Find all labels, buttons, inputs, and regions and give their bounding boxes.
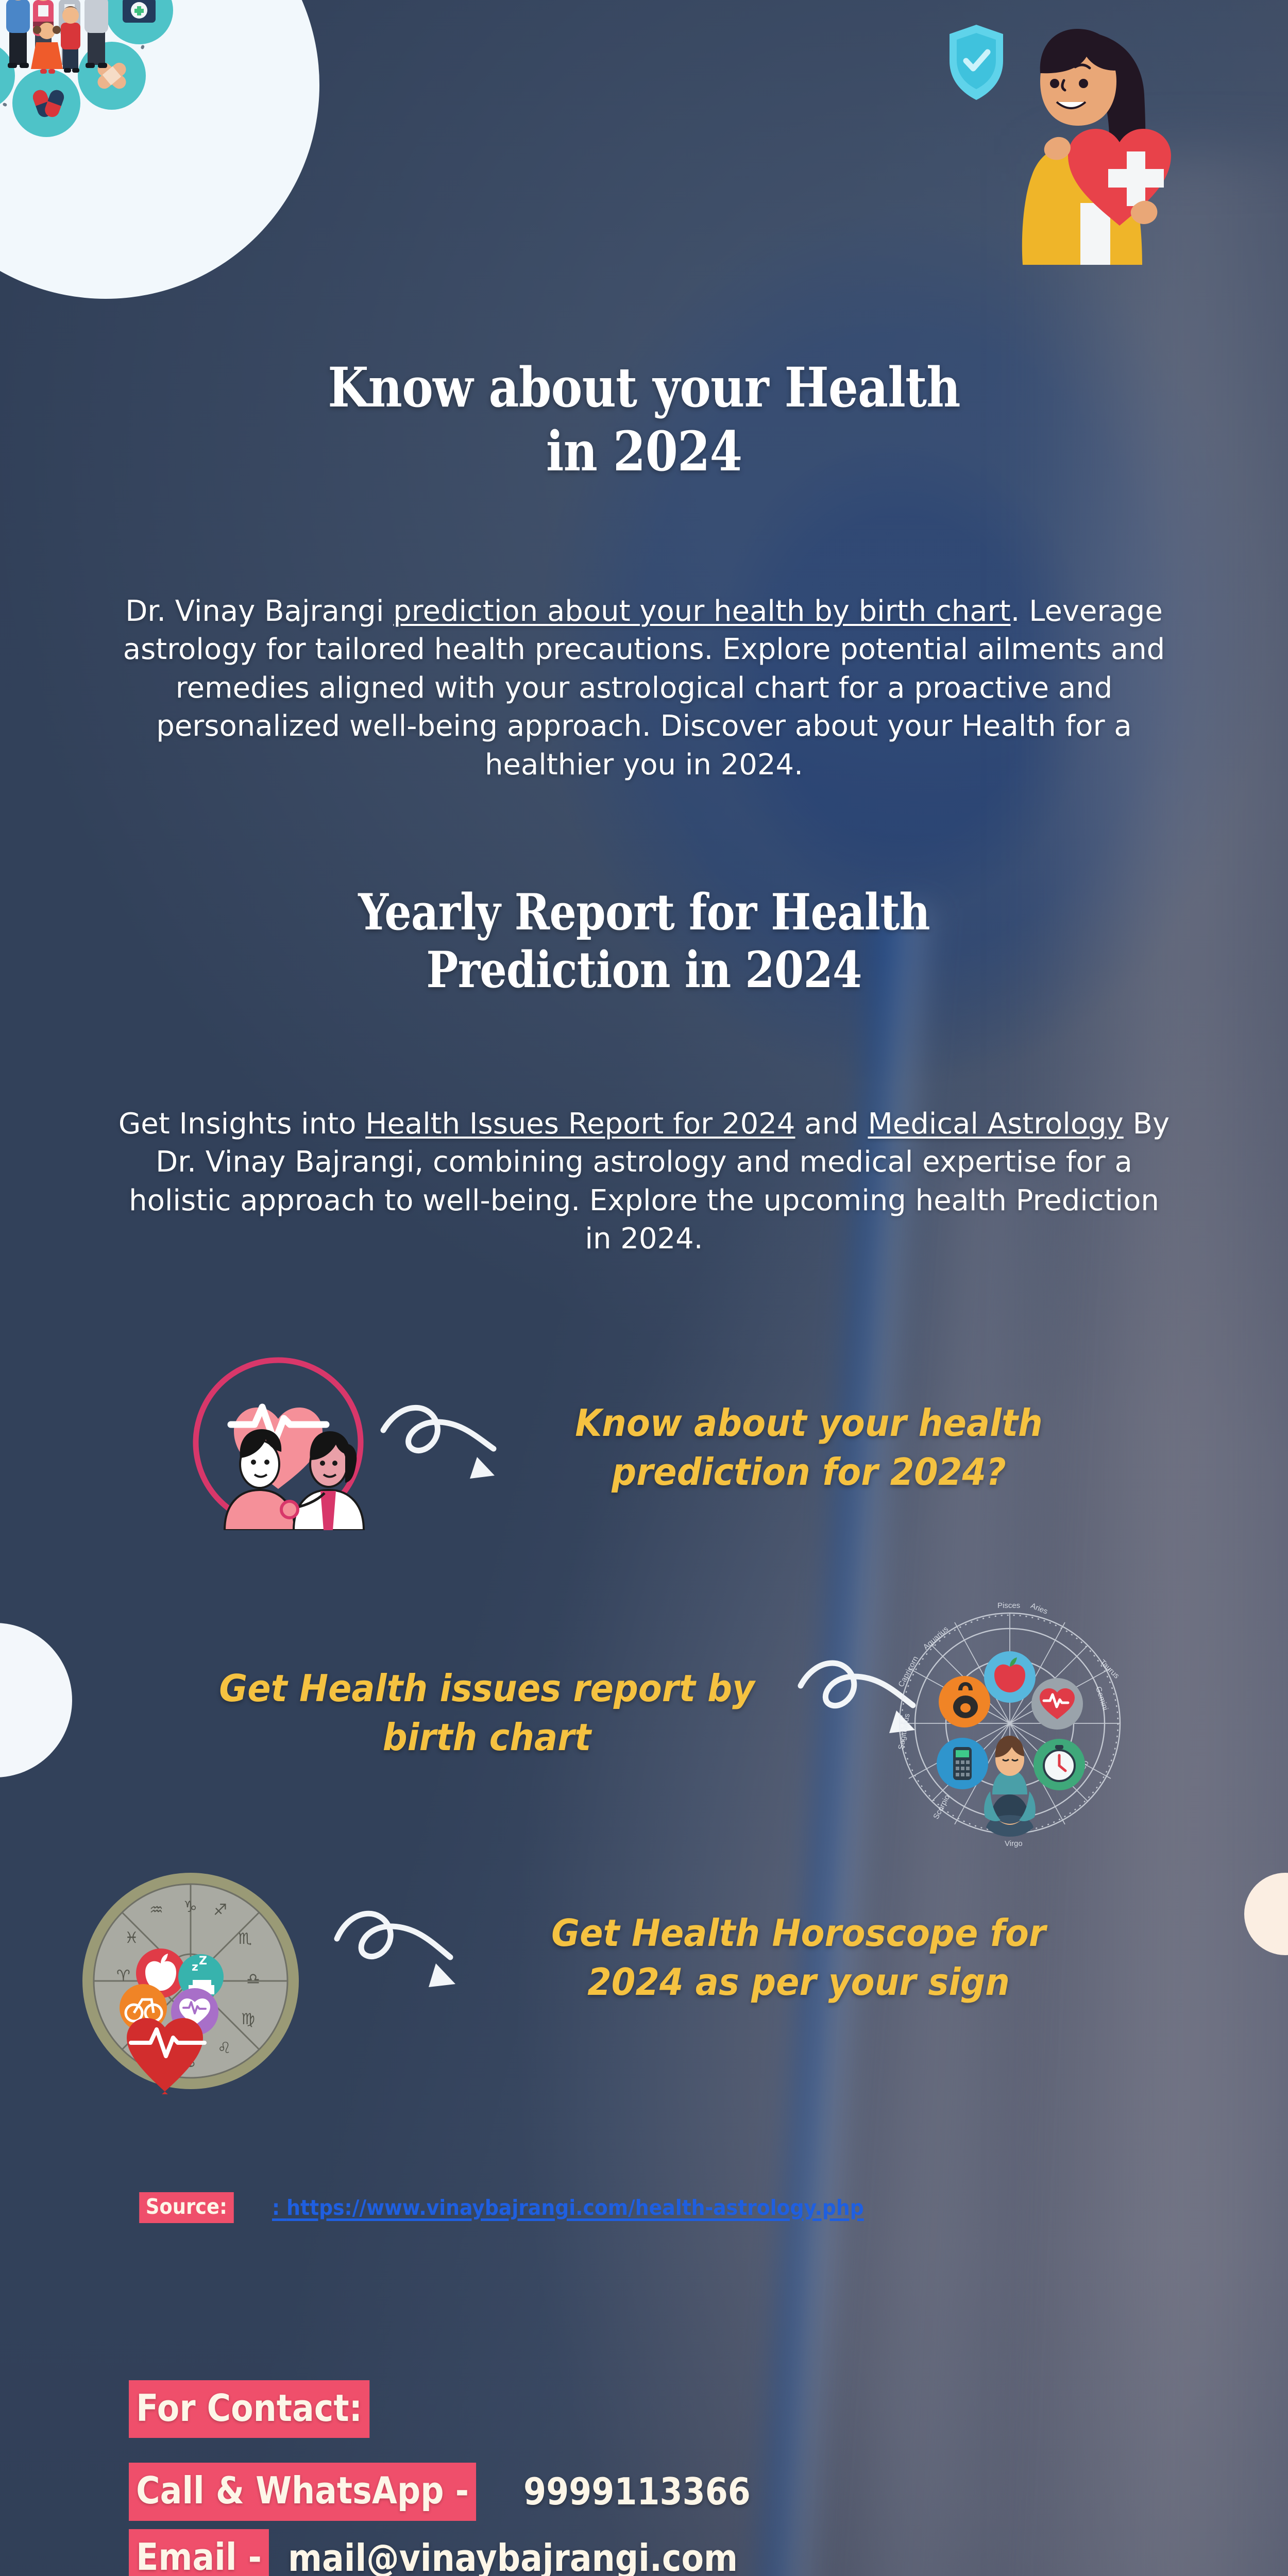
- contact-row-phone: Call & WhatsApp - 9999113366: [129, 2463, 929, 2520]
- heart-rate-bubble: [1031, 1678, 1083, 1730]
- feature-3-label-line-1: Get Health Horoscope for: [511, 1909, 1086, 1958]
- contact-row-email: Email - mail@vinaybajrangi.com: [129, 2529, 929, 2576]
- feature-2-label-line-2: birth chart: [192, 1713, 782, 1762]
- meditating-person: [984, 1736, 1036, 1837]
- svg-text:♏: ♏: [238, 1930, 252, 1948]
- contact-email-label: Email -: [129, 2529, 269, 2576]
- svg-text:Aquarius: Aquarius: [922, 1624, 950, 1651]
- contact-email-value[interactable]: mail@vinaybajrangi.com: [288, 2533, 738, 2576]
- feature-3-label-line-2: 2024 as per your sign: [511, 1958, 1086, 2007]
- apple-bubble: [984, 1651, 1036, 1703]
- contact-phone-label: Call & WhatsApp -: [129, 2463, 476, 2520]
- first-aid-kit-icon: [123, 0, 156, 23]
- svg-text:♎: ♎: [246, 1970, 260, 1988]
- source-url-link[interactable]: : https://www.vinaybajrangi.com/health-a…: [272, 2195, 864, 2220]
- svg-text:♑: ♑: [183, 1898, 197, 1916]
- svg-text:♈: ♈: [116, 1967, 130, 1985]
- curved-arrow-right-3: [330, 1899, 474, 2002]
- family-health-icons-illustration: [0, 0, 180, 144]
- doctor-patient-heartbeat-icon[interactable]: [191, 1355, 366, 1530]
- svg-text:♌: ♌: [217, 2039, 231, 2057]
- svg-text:♐: ♐: [213, 1901, 227, 1919]
- contact-phone-value[interactable]: 9999113366: [523, 2467, 751, 2516]
- title-line-2: in 2024: [546, 419, 742, 483]
- feature-row-1: Know about your health prediction for 20…: [0, 1350, 1288, 1577]
- page-title: Know about your Health in 2024: [0, 355, 1288, 483]
- second-mid: and: [795, 1107, 868, 1141]
- curved-arrow-right-1: [376, 1396, 510, 1494]
- feature-row-3: ♑♒♓ ♈♉♊ ♋♌♍ ♎♏♐ zZ Get Health Horoscope …: [0, 1844, 1288, 2071]
- svg-text:z: z: [192, 1961, 198, 1974]
- svg-text:♍: ♍: [241, 2010, 255, 2028]
- source-line: Source: : https://www.vinaybajrangi.com/…: [134, 2192, 889, 2223]
- contact-heading-label: For Contact:: [129, 2380, 369, 2438]
- feature-1-label-line-2: prediction for 2024?: [550, 1448, 1067, 1497]
- intro-link[interactable]: prediction about your health by birth ch…: [393, 595, 1010, 628]
- subtitle-line-1: Yearly Report for Health: [358, 883, 929, 941]
- svg-text:♓: ♓: [125, 1929, 139, 1947]
- second-pre: Get Insights into: [118, 1107, 365, 1141]
- family-illustration: [6, 0, 108, 74]
- health-issues-report-link[interactable]: Health Issues Report for 2024: [365, 1107, 795, 1141]
- source-separator: :: [272, 2195, 280, 2220]
- svg-text:Gemini: Gemini: [1094, 1685, 1110, 1711]
- woman-holding-heart-illustration: [945, 5, 1234, 325]
- phone-bubble: [937, 1738, 988, 1789]
- intro-paragraph: Dr. Vinay Bajrangi prediction about your…: [113, 592, 1175, 784]
- second-paragraph-block: Get Insights into Health Issues Report f…: [0, 1105, 1288, 1259]
- svg-text:Z: Z: [199, 1955, 207, 1968]
- source-url-text: https://www.vinaybajrangi.com/health-ast…: [286, 2195, 864, 2220]
- contact-block: For Contact: Call & WhatsApp - 999911336…: [129, 2380, 929, 2576]
- clock-bubble: [1033, 1739, 1085, 1790]
- svg-text:Pisces: Pisces: [997, 1601, 1020, 1610]
- kettlebell-bubble: [939, 1676, 990, 1727]
- subtitle-line-2: Prediction in 2024: [426, 941, 861, 999]
- svg-text:Sagittarius: Sagittarius: [896, 1713, 911, 1751]
- medical-astrology-link[interactable]: Medical Astrology: [868, 1107, 1123, 1141]
- title-line-1: Know about your Health: [328, 355, 960, 419]
- svg-text:♒: ♒: [149, 1901, 163, 1919]
- source-label: Source:: [139, 2192, 233, 2223]
- svg-text:Scorpio: Scorpio: [931, 1793, 952, 1821]
- svg-text:Capricorn: Capricorn: [896, 1655, 920, 1688]
- zodiac-wheel-meditation-icon[interactable]: Pisces Aries Gemini Leo Virgo Scorpio Sa…: [876, 1589, 1144, 1857]
- feature-2-label-line-1: Get Health issues report by: [192, 1664, 782, 1713]
- feature-1-label-line-1: Know about your health: [550, 1399, 1067, 1448]
- intro-paragraph-block: Dr. Vinay Bajrangi prediction about your…: [0, 592, 1288, 784]
- intro-pre: Dr. Vinay Bajrangi: [125, 595, 393, 628]
- section-title: Yearly Report for Health Prediction in 2…: [0, 884, 1288, 999]
- shield-check-icon: [950, 25, 1003, 100]
- second-paragraph: Get Insights into Health Issues Report f…: [113, 1105, 1175, 1259]
- zodiac-wheel-health-icons[interactable]: ♑♒♓ ♈♉♊ ♋♌♍ ♎♏♐ zZ: [77, 1868, 304, 2094]
- svg-text:Aries: Aries: [1029, 1601, 1049, 1616]
- feature-row-2: Get Health issues report by birth chart …: [0, 1607, 1288, 1834]
